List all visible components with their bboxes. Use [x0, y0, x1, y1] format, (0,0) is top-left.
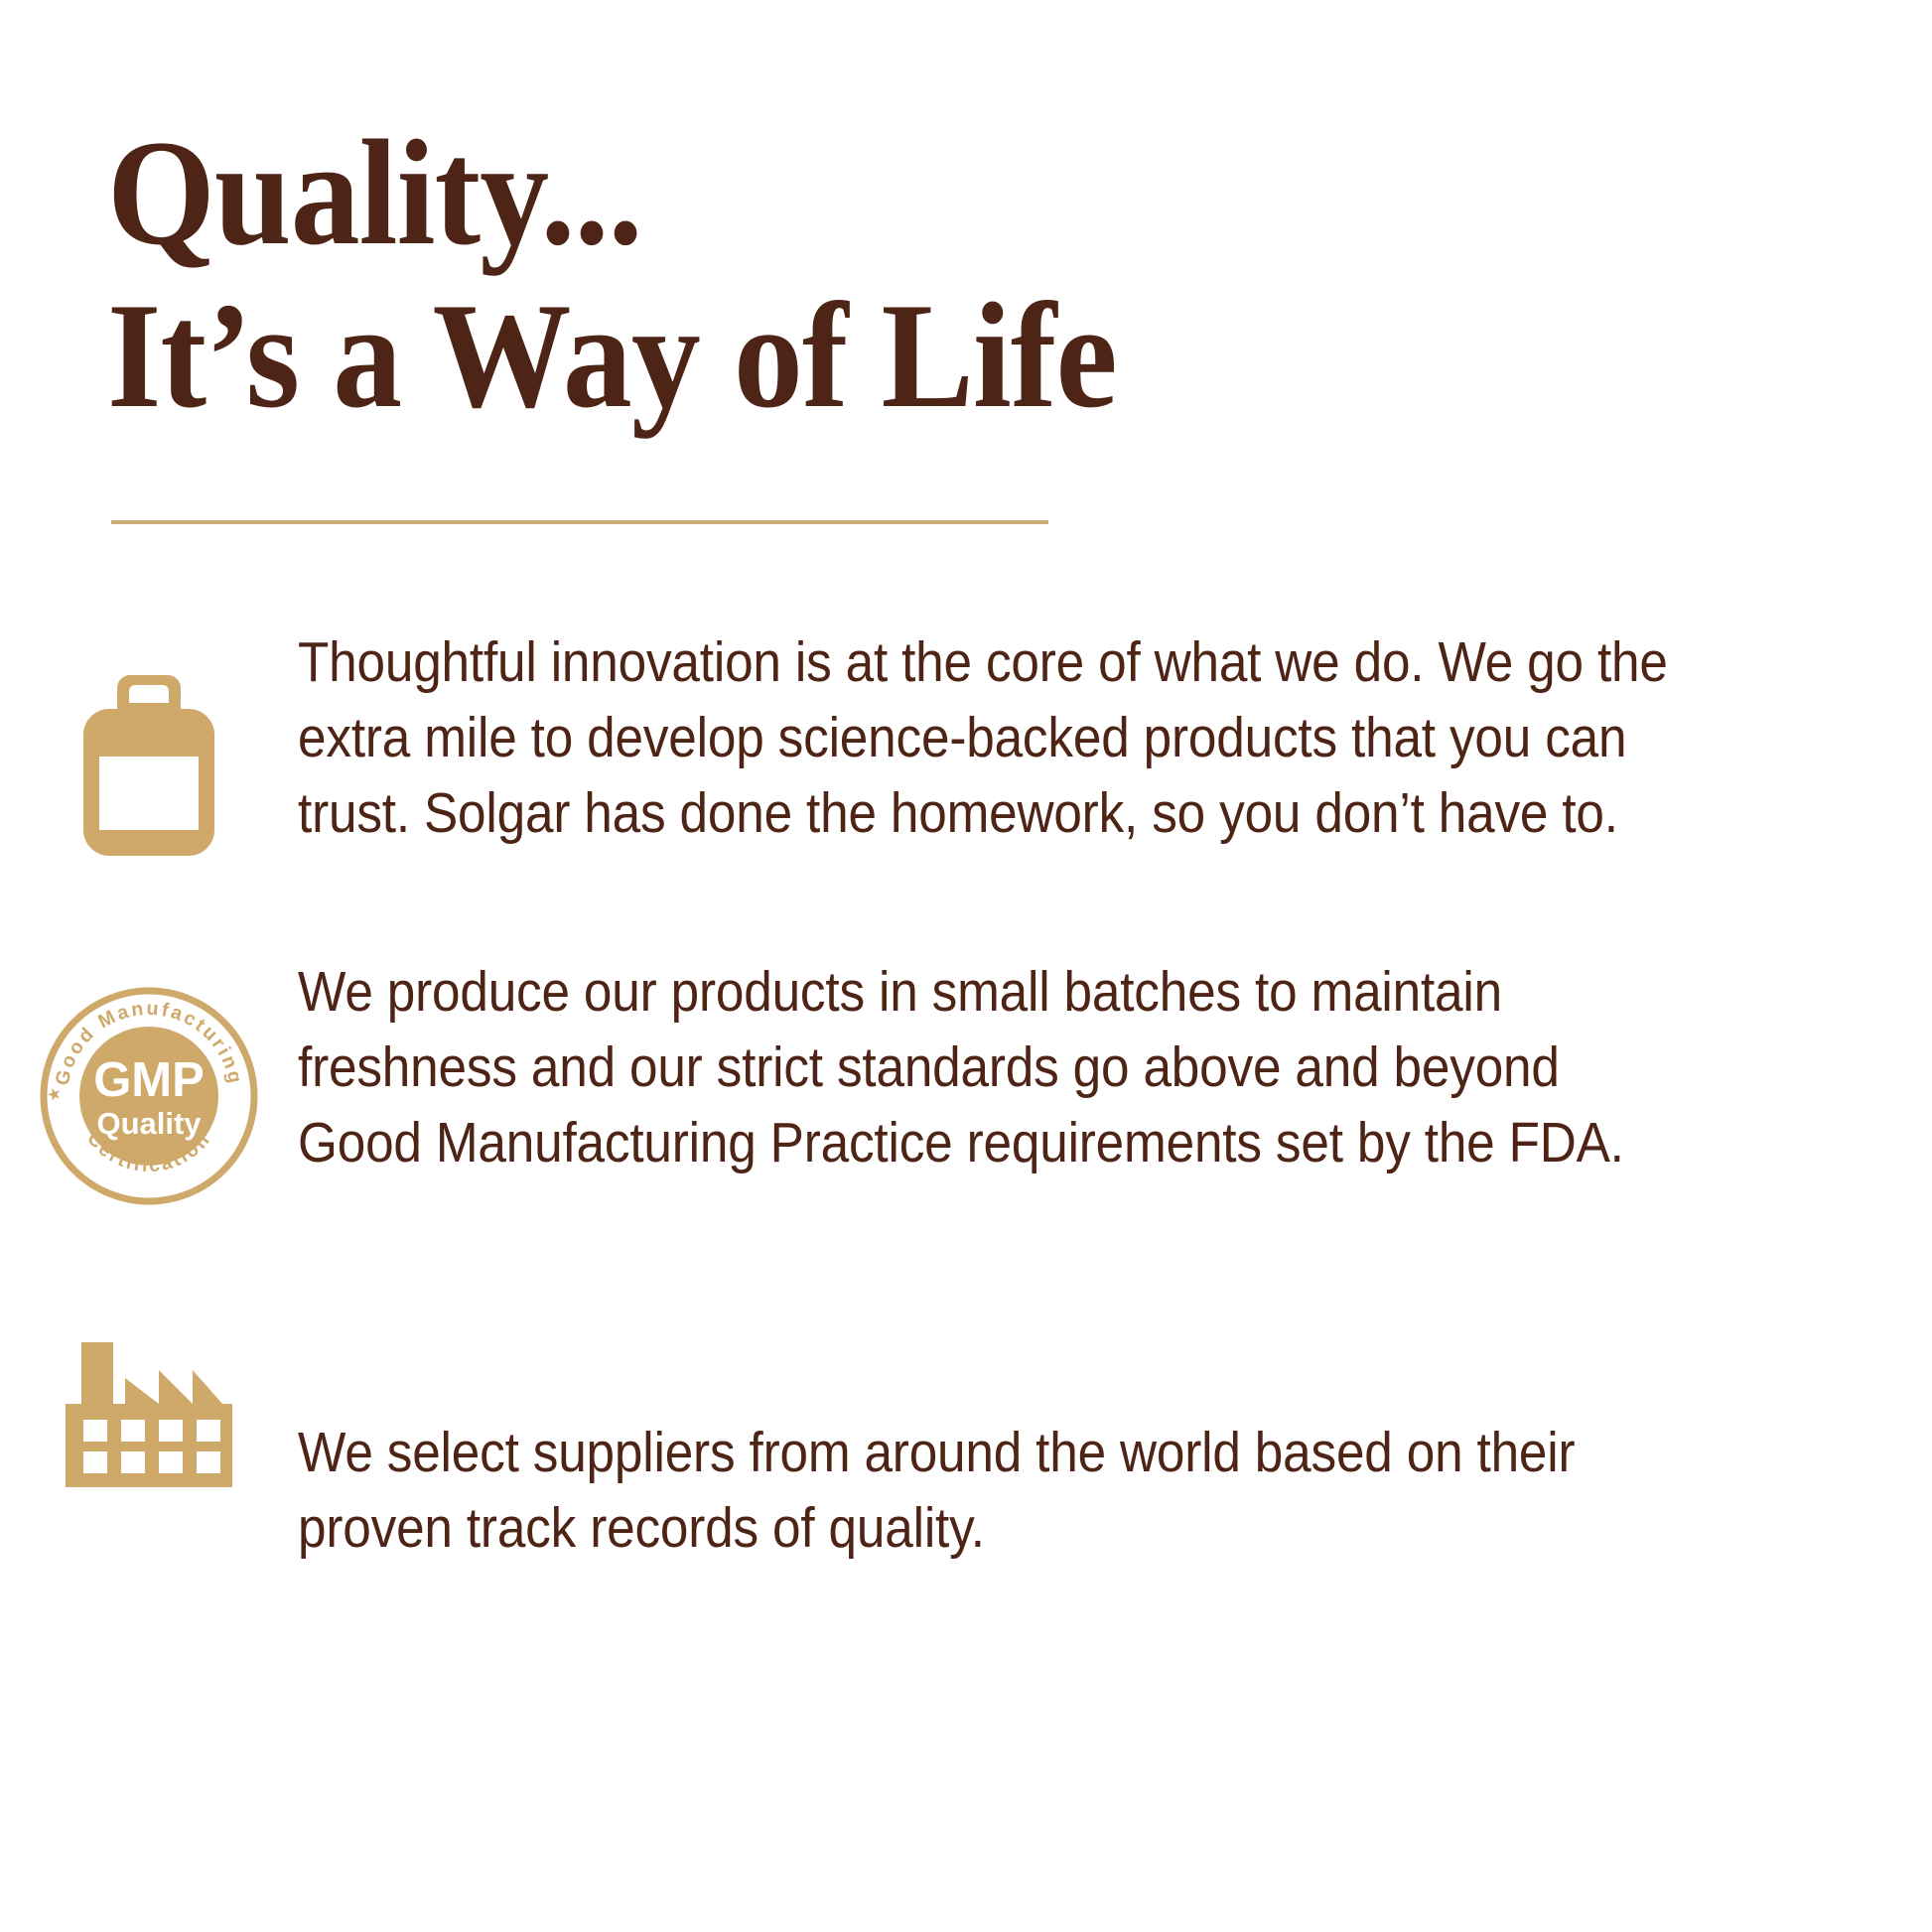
- gmp-center-line-1: GMP: [93, 1053, 205, 1107]
- gmp-center-line-2: Quality: [96, 1106, 202, 1141]
- factory-icon: [64, 1340, 234, 1491]
- feature-text-slot: Thoughtful innovation is at the core of …: [298, 625, 1727, 851]
- page-title: Quality... It’s a Way of Life: [107, 111, 1386, 437]
- feature-icon-slot: ★ Good Manufacturing Certification GMP Q…: [0, 955, 298, 1207]
- feature-row-innovation: Thoughtful innovation is at the core of …: [0, 625, 1932, 856]
- page-title-line-1: Quality...: [107, 111, 1386, 274]
- gmp-quality-seal-icon: ★ Good Manufacturing Certification GMP Q…: [38, 985, 260, 1207]
- supplement-bottle-icon: [73, 675, 224, 856]
- header-divider: [111, 520, 1048, 524]
- feature-row-suppliers: We select suppliers from around the worl…: [0, 1336, 1932, 1567]
- feature-list: Thoughtful innovation is at the core of …: [0, 625, 1932, 1567]
- feature-icon-slot: [0, 625, 298, 856]
- feature-text-slot: We produce our products in small batches…: [298, 955, 1727, 1180]
- feature-paragraph: We select suppliers from around the worl…: [298, 1416, 1692, 1567]
- feature-paragraph: Thoughtful innovation is at the core of …: [298, 625, 1692, 851]
- feature-paragraph: We produce our products in small batches…: [298, 955, 1692, 1180]
- page-title-line-2: It’s a Way of Life: [107, 274, 1386, 437]
- seal-star-icon: ★: [45, 1087, 65, 1102]
- feature-icon-slot: [0, 1336, 298, 1491]
- svg-text:★: ★: [45, 1087, 65, 1102]
- feature-row-gmp: ★ Good Manufacturing Certification GMP Q…: [0, 955, 1932, 1207]
- feature-text-slot: We select suppliers from around the worl…: [298, 1336, 1727, 1567]
- quality-infographic-page: Quality... It’s a Way of Life: [0, 0, 1932, 1932]
